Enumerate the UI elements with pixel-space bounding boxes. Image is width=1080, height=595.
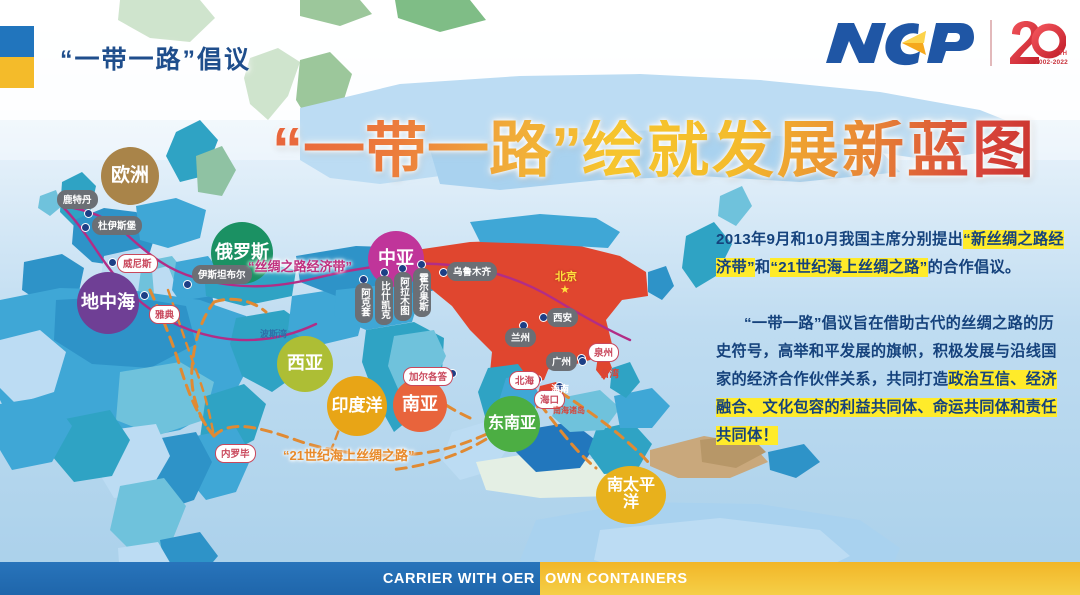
slide-root: “一带一路”倡议 TH 2002-2022 xyxy=(0,0,1080,595)
city-dot xyxy=(84,209,93,218)
city-label: 伊斯坦布尔 xyxy=(192,265,252,284)
city-dot xyxy=(108,258,117,267)
p1-part-c: 的合作倡议。 xyxy=(928,259,1021,276)
page-title: “一带一路”绘就发展新蓝图 xyxy=(272,120,1037,182)
page-title-quoted: “一带一路” xyxy=(272,116,582,185)
region-bubble: 地中海 xyxy=(77,272,139,334)
city-label: 广州 xyxy=(546,352,577,371)
city-label-vertical: 阿克套 xyxy=(355,283,373,323)
brand-logo: TH 2002-2022 xyxy=(824,14,1066,72)
city-label: 内罗毕 xyxy=(215,444,256,463)
city-label: 杜伊斯堡 xyxy=(92,216,142,235)
region-bubble: 南亚 xyxy=(393,378,447,432)
city-label-vertical: 霍尔果斯 xyxy=(413,268,431,317)
logo-divider xyxy=(990,20,992,66)
city-label: 加尔各答 xyxy=(403,367,453,386)
city-dot xyxy=(578,357,587,366)
city-label: 兰州 xyxy=(505,328,536,347)
city-label-vertical: 比什凯克 xyxy=(375,276,393,325)
p1-part-a: 2013年9月和10月我国主席分别提出 xyxy=(716,231,963,248)
kicker-text: “一带一路”倡议 xyxy=(60,40,251,76)
anniversary-tm-text: TH xyxy=(1059,51,1067,57)
description-panel: 2013年9月和10月我国主席分别提出“新丝绸之路经济带”和“21世纪海上丝绸之… xyxy=(716,226,1066,450)
city-label: 雅典 xyxy=(149,305,180,324)
p1-part-b: 和 xyxy=(755,259,771,276)
flag-accent xyxy=(0,26,34,88)
page-title-rest: 绘就发展新蓝图 xyxy=(582,116,1037,185)
city-dot xyxy=(183,280,192,289)
city-dot xyxy=(140,291,149,300)
city-label: 西安 xyxy=(547,308,578,327)
city-label-vertical: 阿拉木图 xyxy=(394,272,412,321)
route-label-belt: “丝绸之路经济带” xyxy=(248,256,352,275)
flag-blue-band xyxy=(0,26,34,57)
capital-star-icon: ★ xyxy=(560,283,570,296)
anniversary-badge: TH 2002-2022 xyxy=(1006,19,1066,67)
city-label: 威尼斯 xyxy=(117,254,158,273)
footer-left-segment: CARRIER WITH OER xyxy=(0,562,540,595)
region-bubble: 印度洋 xyxy=(327,376,387,436)
city-label: 泉州 xyxy=(588,343,619,362)
region-bubble: 东南亚 xyxy=(484,396,540,452)
p1-highlight-two: “21世纪海上丝绸之路” xyxy=(770,258,927,277)
route-label-sea: “21世纪海上丝绸之路” xyxy=(283,445,414,464)
flag-yellow-band xyxy=(0,57,34,88)
footer-right-segment: OWN CONTAINERS xyxy=(540,562,1080,595)
anniversary-years-text: 2002-2022 xyxy=(1035,59,1068,66)
region-bubble: 南太平洋 xyxy=(596,466,666,524)
map-text-label: 波斯湾 xyxy=(260,327,287,340)
footer-bar: CARRIER WITH OER OWN CONTAINERS xyxy=(0,562,1080,595)
paragraph-one: 2013年9月和10月我国主席分别提出“新丝绸之路经济带”和“21世纪海上丝绸之… xyxy=(716,226,1066,282)
city-label: 北海 xyxy=(509,371,540,390)
region-bubble: 欧洲 xyxy=(101,147,159,205)
ncp-wordmark-icon xyxy=(824,17,974,69)
city-dot xyxy=(81,223,90,232)
footer-left-text: CARRIER WITH OER xyxy=(383,571,535,587)
city-label: 鹿特丹 xyxy=(57,190,98,209)
capital-label: 北京 xyxy=(555,268,577,284)
map-text-label: 海南 xyxy=(551,382,569,395)
map-text-label: 南海诸岛 xyxy=(553,405,585,416)
map-text-label: 台湾 xyxy=(600,366,619,380)
footer-right-text: OWN CONTAINERS xyxy=(545,571,688,587)
region-bubble: 西亚 xyxy=(277,336,333,392)
city-label: 乌鲁木齐 xyxy=(447,262,497,281)
paragraph-two: “一带一路”倡议旨在借助古代的丝绸之路的历史符号，高举和平发展的旗帜，积极发展与… xyxy=(716,310,1066,450)
